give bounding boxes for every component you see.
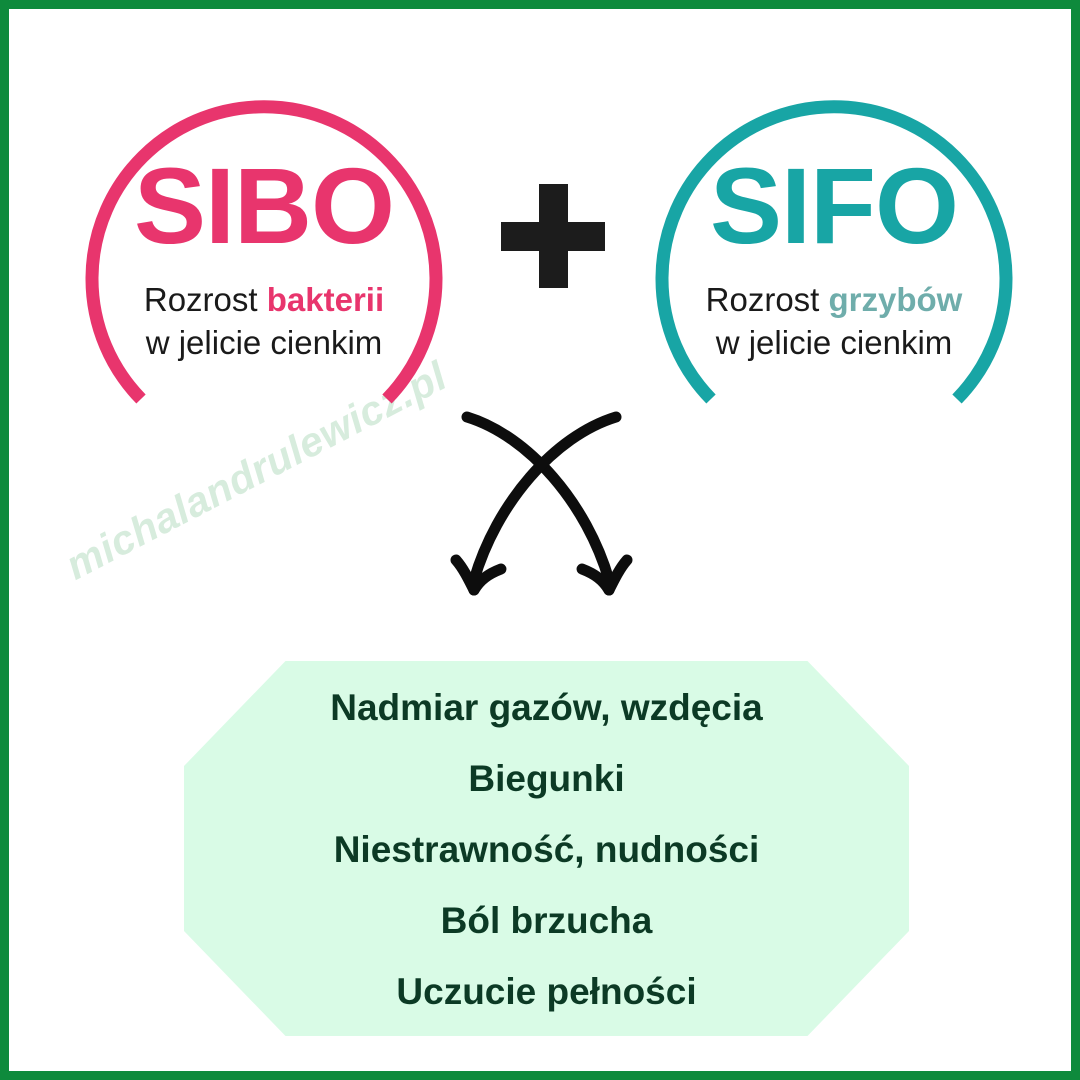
badge-sifo-description-highlight: grzybów (829, 281, 963, 318)
symptom-item: Uczucie pełności (396, 973, 696, 1010)
badge-sifo-description-line1: Rozrost grzybów (706, 282, 963, 319)
infographic-canvas: michalandrulewicz.pl SIBO Rozrost bakter… (0, 0, 1080, 1080)
badge-sifo-content: SIFO Rozrost grzybów w jelicie cienkim (634, 54, 1034, 404)
badge-sifo-description-prefix: Rozrost (706, 281, 829, 318)
symptom-item: Niestrawność, nudności (334, 831, 760, 868)
plus-icon-vertical-bar (539, 184, 568, 288)
badge-sifo-description-line2: w jelicie cienkim (716, 325, 953, 362)
badge-sifo-acronym: SIFO (710, 152, 958, 260)
badge-sifo: SIFO Rozrost grzybów w jelicie cienkim (634, 54, 1034, 404)
badge-sibo-description-line1: Rozrost bakterii (144, 282, 384, 319)
badge-sibo-content: SIBO Rozrost bakterii w jelicie cienkim (64, 54, 464, 404)
symptom-item: Biegunki (468, 760, 624, 797)
symptoms-panel: Nadmiar gazów, wzdęcia Biegunki Niestraw… (184, 661, 909, 1036)
symptom-item: Ból brzucha (441, 902, 653, 939)
symptom-item: Nadmiar gazów, wzdęcia (330, 689, 762, 726)
crossing-arrows-icon (419, 394, 679, 629)
badge-sibo-description-line2: w jelicie cienkim (146, 325, 383, 362)
badge-sibo: SIBO Rozrost bakterii w jelicie cienkim (64, 54, 464, 404)
badge-sibo-description-prefix: Rozrost (144, 281, 267, 318)
badge-sibo-description-highlight: bakterii (267, 281, 384, 318)
badge-sibo-acronym: SIBO (134, 152, 394, 260)
plus-icon (501, 184, 605, 288)
